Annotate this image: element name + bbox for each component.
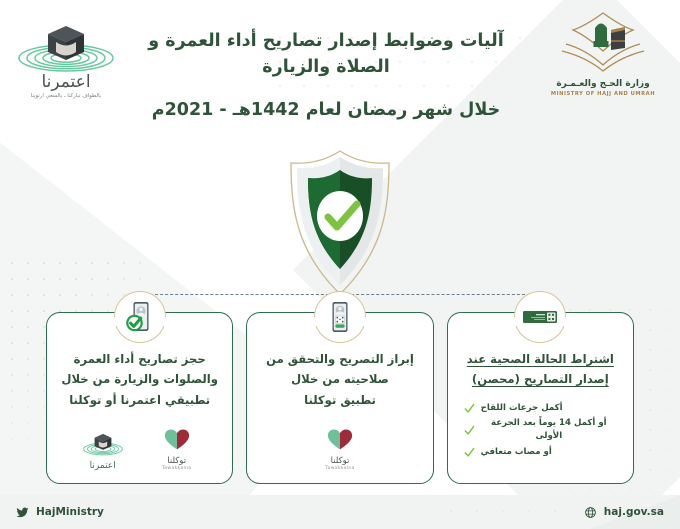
tawakkalna-mark [312, 424, 368, 454]
check-icon [464, 403, 475, 414]
poster-header: اعتمرنا بالطواف تباركنا ـ بالسعي ارتوينا… [0, 0, 680, 140]
app-logos: توكلنا Tawakkalna [57, 424, 222, 471]
tawakkalna-logo-icon: توكلنا Tawakkalna [312, 424, 368, 471]
list-item: أو مصاب متعافي [464, 446, 617, 459]
bullet-text: أو مصاب متعافي [481, 446, 552, 459]
list-item: أكمل جرعات اللقاح [464, 402, 617, 415]
card-title-line-2: إصدار التصاريح (محصن) [472, 372, 609, 386]
etamarna-small-svg [82, 430, 124, 458]
etamarna-brand-logo: اعتمرنا بالطواف تباركنا ـ بالسعي ارتوينا [14, 8, 118, 99]
twitter-handle-group[interactable]: HajMinistry [16, 506, 104, 519]
tawakkalna-svg [325, 426, 355, 452]
poster-title-block: آليات وضوابط إصدار تصاريح أداء العمرة و … [120, 28, 532, 123]
kaaba-rings-icon [14, 8, 118, 74]
card-show-permit[interactable]: إبراز التصريح والتحقق من صلاحيته من خلال… [246, 312, 433, 484]
shield-check-icon [275, 148, 405, 298]
phone-qr-svg [320, 297, 360, 337]
website-group[interactable]: haj.gov.sa [584, 506, 664, 519]
infographic-poster: اعتمرنا بالطواف تباركنا ـ بالسعي ارتوينا… [0, 0, 680, 529]
card-title-line-3: تطبيقي اعتمرنا أو توكلنا [69, 393, 210, 407]
card-title: إبراز التصريح والتحقق من صلاحيته من خلال… [257, 349, 422, 410]
ministry-brand-logo: وزارة الحـج والعـمـرة MINISTRY OF HAJJ A… [540, 8, 666, 97]
cards-row: اشتراط الحالة الصحية عند إصدار التصاريح … [46, 312, 634, 484]
etamarna-mark-small [75, 429, 131, 459]
tawakkalna-name-en: Tawakkalna [149, 466, 205, 471]
tawakkalna-logo-icon: توكلنا Tawakkalna [149, 424, 205, 471]
phone-qr-permit-icon [314, 291, 366, 343]
check-icon [464, 447, 475, 458]
bullet-text: أو أكمل 14 يوماً بعد الجرعة الأولى [481, 417, 617, 443]
card-title: اشتراط الحالة الصحية عند إصدار التصاريح … [458, 349, 623, 390]
globe-icon[interactable] [584, 506, 597, 519]
tawakkalna-name-en: Tawakkalna [312, 466, 368, 471]
tawakkalna-name-ar: توكلنا [149, 456, 205, 466]
shield-check-svg [275, 148, 405, 298]
card-title-line-2: والصلوات والزيارة من خلال [61, 372, 218, 386]
card-title-line-1: حجز تصاريح أداء العمرة [74, 352, 206, 366]
etamarna-rings-svg [16, 24, 116, 72]
etamarna-name-ar-small: اعتمرنا [75, 461, 131, 471]
card-title-line-1: إبراز التصريح والتحقق من [266, 352, 414, 366]
etamarna-tagline: بالطواف تباركنا ـ بالسعي ارتوينا [14, 93, 118, 99]
card-title: حجز تصاريح أداء العمرة والصلوات والزيارة… [57, 349, 222, 410]
website-text[interactable]: haj.gov.sa [604, 506, 664, 518]
card-title-line-1: اشتراط الحالة الصحية عند [467, 352, 614, 366]
bullet-text: أكمل جرعات اللقاح [481, 402, 563, 415]
poster-title-line-1: آليات وضوابط إصدار تصاريح أداء العمرة و … [120, 28, 532, 81]
card-title-line-3: تطبيق توكلنا [304, 393, 376, 407]
tawakkalna-name-ar: توكلنا [312, 456, 368, 466]
card-title-line-2: صلاحيته من خلال [291, 372, 389, 386]
ministry-name-ar: وزارة الحـج والعـمـرة [540, 79, 666, 89]
tawakkalna-svg [162, 426, 192, 452]
card-health-status[interactable]: اشتراط الحالة الصحية عند إصدار التصاريح … [447, 312, 634, 484]
card-book-permit[interactable]: حجز تصاريح أداء العمرة والصلوات والزيارة… [46, 312, 233, 484]
ministry-name-en: MINISTRY OF HAJJ AND UMRAH [540, 91, 666, 97]
bullet-list: أكمل جرعات اللقاح أو أكمل 14 يوماً بعد ا… [458, 402, 623, 460]
poster-footer: HajMinistry haj.gov.sa [0, 495, 680, 529]
hajj-ministry-crest-icon [540, 8, 666, 74]
etamarna-logo-icon: اعتمرنا [75, 429, 131, 471]
health-card-svg [520, 297, 560, 337]
tawakkalna-mark [149, 424, 205, 454]
health-status-card-icon [514, 291, 566, 343]
phone-check-booking-icon [114, 291, 166, 343]
app-logos: توكلنا Tawakkalna [257, 424, 422, 471]
list-item: أو أكمل 14 يوماً بعد الجرعة الأولى [464, 417, 617, 443]
poster-title-line-2: خلال شهر رمضان لعام 1442هـ - 2021م [120, 97, 532, 123]
twitter-bird-icon[interactable] [16, 506, 29, 519]
check-icon [464, 425, 475, 436]
etamarna-name-ar: اعتمرنا [14, 72, 118, 92]
phone-check-svg [120, 297, 160, 337]
twitter-handle-text[interactable]: HajMinistry [36, 506, 104, 518]
